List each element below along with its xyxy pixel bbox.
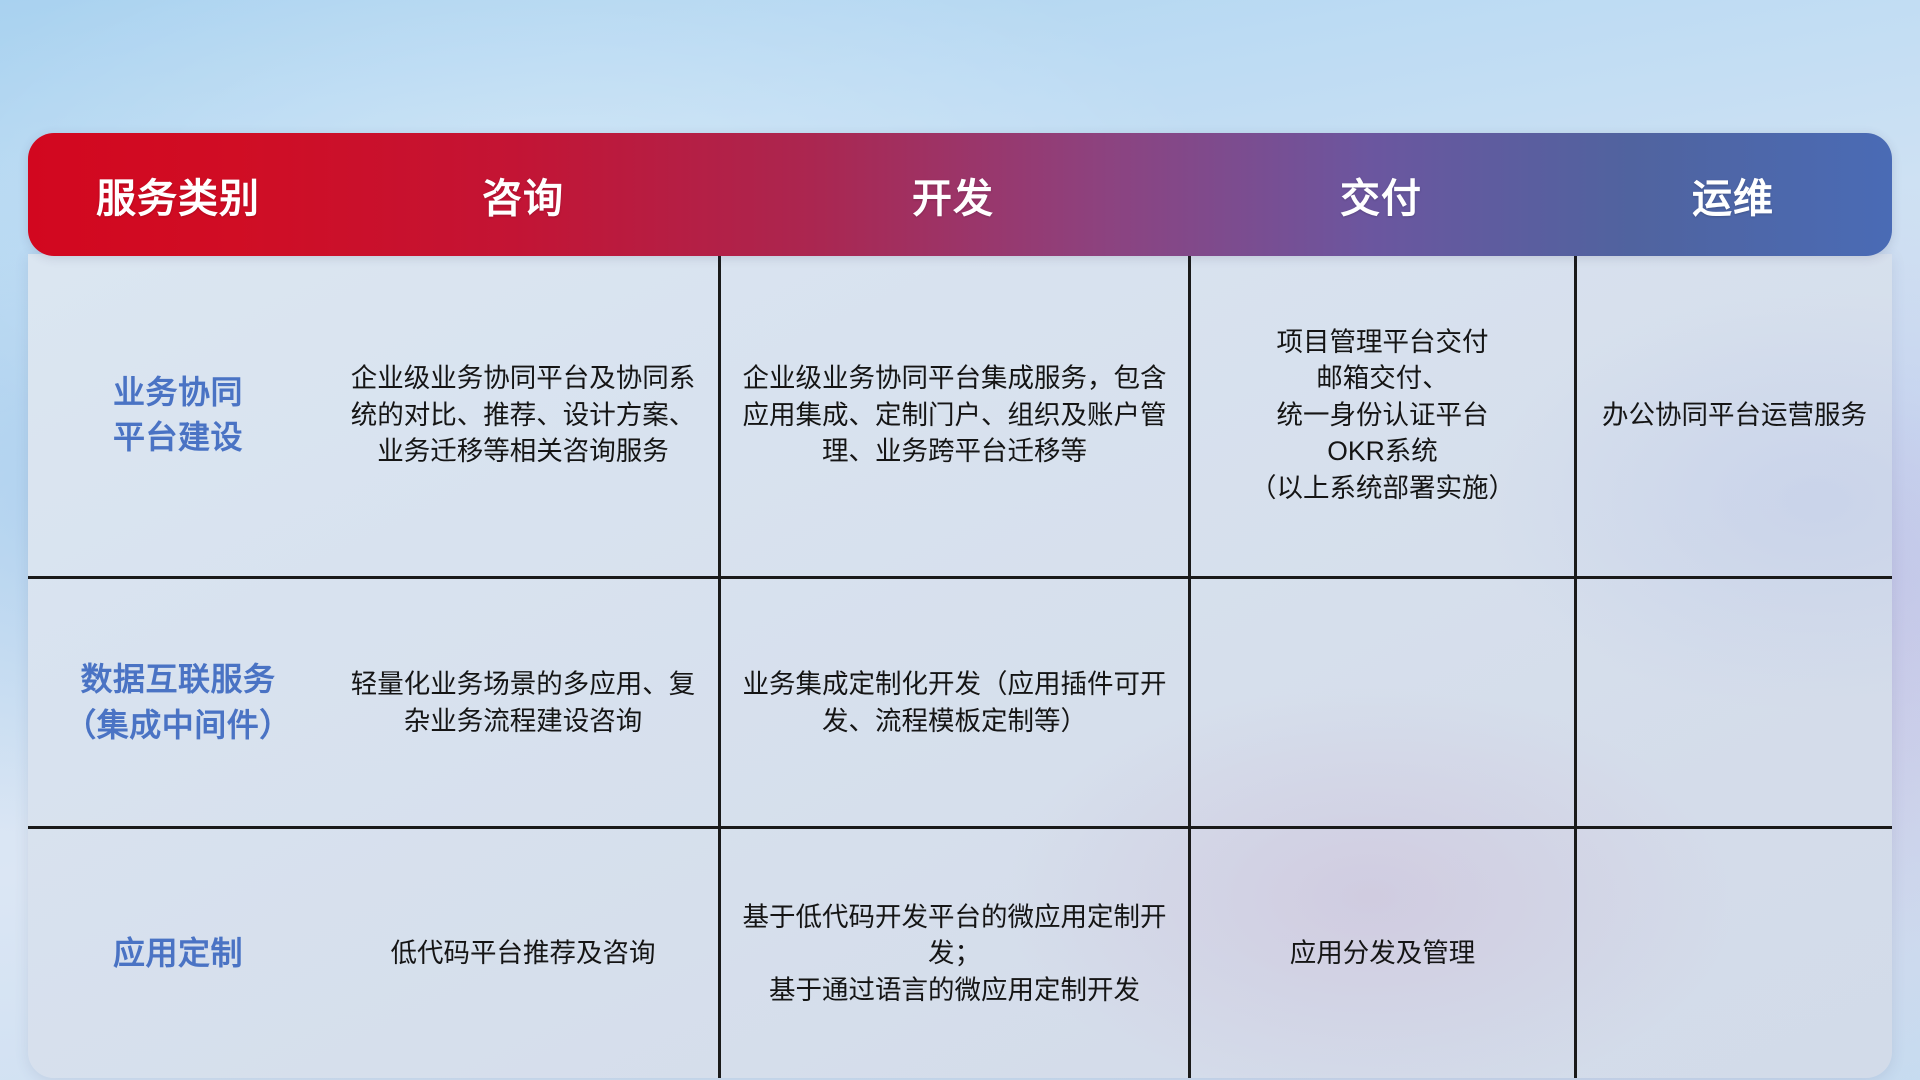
cell-development: 基于低代码开发平台的微应用定制开发； 基于通过语言的微应用定制开发 <box>718 829 1188 1078</box>
column-header-service-category: 服务类别 <box>28 133 328 256</box>
row-category-label: 数据互联服务 （集成中间件） <box>28 579 328 826</box>
table-row: 数据互联服务 （集成中间件） 轻量化业务场景的多应用、复杂业务流程建设咨询 业务… <box>28 576 1892 826</box>
column-header-development: 开发 <box>718 133 1188 256</box>
column-header-consulting: 咨询 <box>328 133 718 256</box>
cell-development: 企业级业务协同平台集成服务，包含应用集成、定制门户、组织及账户管理、业务跨平台迁… <box>718 254 1188 576</box>
row-category-label: 应用定制 <box>28 829 328 1078</box>
cell-operations <box>1574 579 1892 826</box>
table-body: 业务协同 平台建设 企业级业务协同平台及协同系统的对比、推荐、设计方案、业务迁移… <box>28 254 1892 1078</box>
cell-operations: 办公协同平台运营服务 <box>1574 254 1892 576</box>
table-header-row: 服务类别 咨询 开发 交付 运维 <box>28 133 1892 256</box>
cell-development: 业务集成定制化开发（应用插件可开发、流程模板定制等） <box>718 579 1188 826</box>
column-header-operations: 运维 <box>1574 133 1892 256</box>
cell-operations <box>1574 829 1892 1078</box>
table-row: 应用定制 低代码平台推荐及咨询 基于低代码开发平台的微应用定制开发； 基于通过语… <box>28 826 1892 1078</box>
column-header-delivery: 交付 <box>1188 133 1574 256</box>
row-category-label: 业务协同 平台建设 <box>28 254 328 576</box>
cell-consulting: 企业级业务协同平台及协同系统的对比、推荐、设计方案、业务迁移等相关咨询服务 <box>328 254 718 576</box>
cell-consulting: 轻量化业务场景的多应用、复杂业务流程建设咨询 <box>328 579 718 826</box>
cell-delivery: 项目管理平台交付 邮箱交付、 统一身份认证平台 OKR系统 （以上系统部署实施） <box>1188 254 1574 576</box>
cell-consulting: 低代码平台推荐及咨询 <box>328 829 718 1078</box>
cell-delivery: 应用分发及管理 <box>1188 829 1574 1078</box>
service-matrix-table: 服务类别 咨询 开发 交付 运维 业务协同 平台建设 企业级业务协同平台及协同系… <box>28 133 1892 1078</box>
table-row: 业务协同 平台建设 企业级业务协同平台及协同系统的对比、推荐、设计方案、业务迁移… <box>28 254 1892 576</box>
cell-delivery <box>1188 579 1574 826</box>
